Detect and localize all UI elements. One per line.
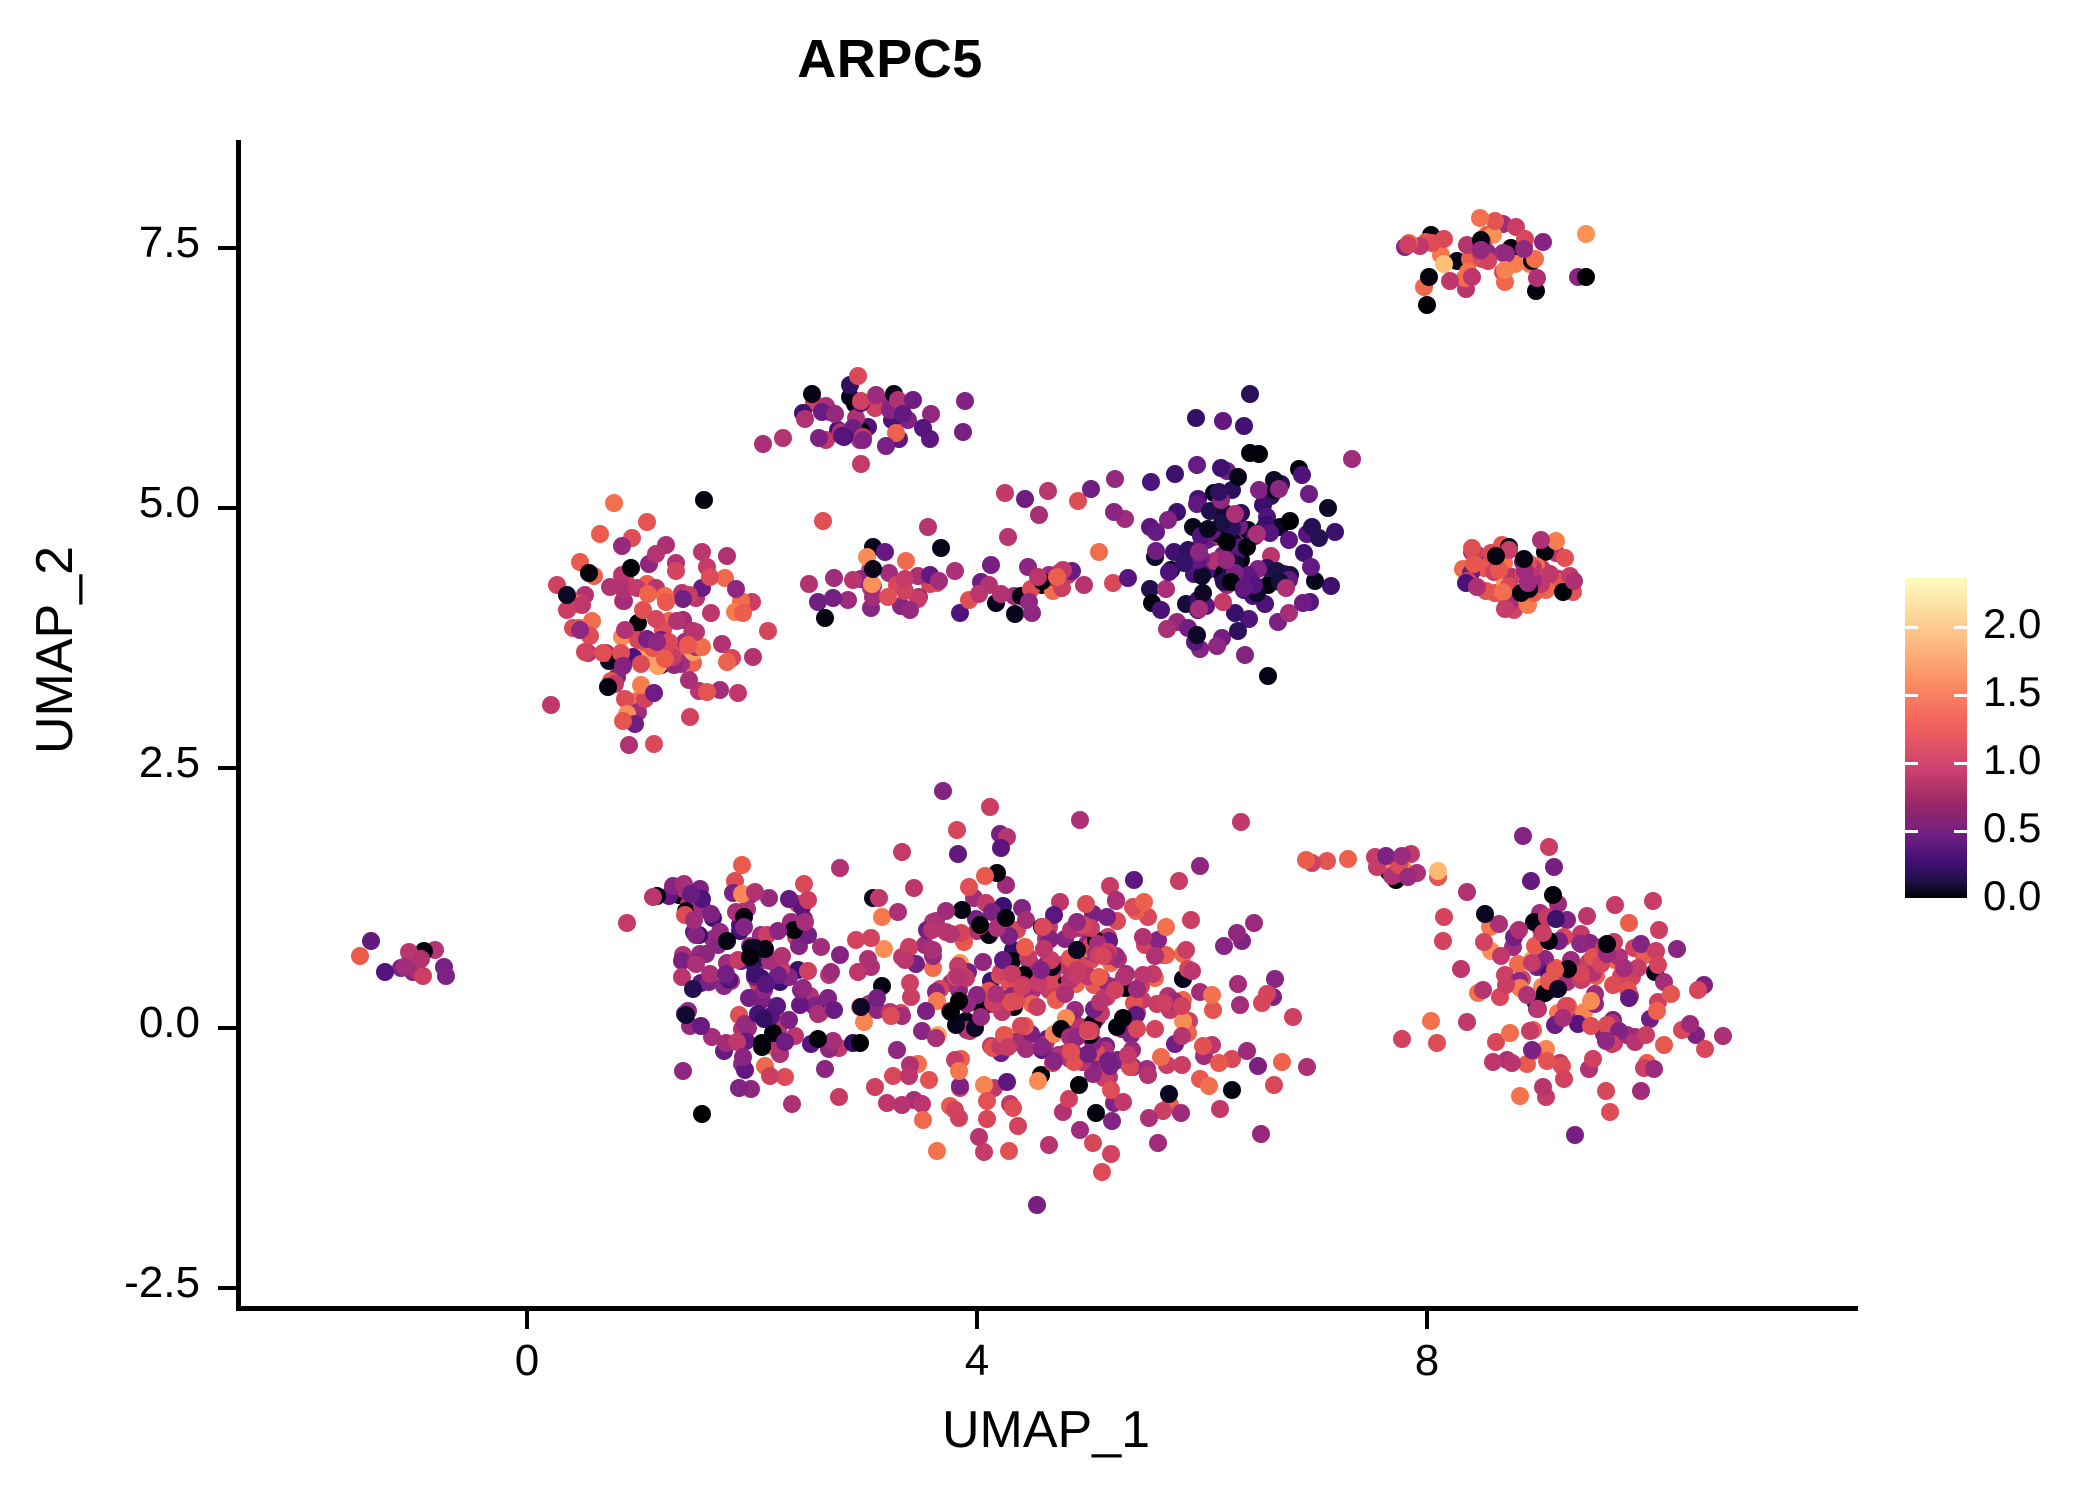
scatter-point (1668, 940, 1686, 958)
y-tick-label: 0.0 (20, 998, 200, 1048)
scatter-point (949, 845, 967, 863)
scatter-point (1193, 567, 1211, 585)
scatter-point (1277, 579, 1295, 597)
scatter-point (1210, 483, 1228, 501)
scatter-point (812, 938, 830, 956)
scatter-point (1534, 233, 1552, 251)
scatter-point (1017, 1040, 1035, 1058)
colorbar-tick-mark (1954, 694, 1967, 697)
x-tick-mark (1425, 1311, 1429, 1329)
scatter-point (816, 609, 834, 627)
scatter-point (730, 1079, 748, 1097)
scatter-point (1152, 601, 1170, 619)
scatter-point (1696, 1040, 1714, 1058)
scatter-point (833, 427, 851, 445)
scatter-point (830, 1088, 848, 1106)
scatter-point (1071, 1121, 1089, 1139)
scatter-point (1582, 1017, 1600, 1035)
scatter-point (999, 528, 1017, 546)
scatter-point (759, 622, 777, 640)
scatter-point (893, 1096, 911, 1114)
scatter-point (1458, 883, 1476, 901)
scatter-point (1393, 1030, 1411, 1048)
scatter-point (1128, 980, 1146, 998)
scatter-point (1106, 470, 1124, 488)
scatter-point (1645, 1060, 1663, 1078)
scatter-point (1200, 1077, 1218, 1095)
scatter-point (1280, 531, 1298, 549)
scatter-point (1079, 1021, 1097, 1039)
scatter-point (1637, 1026, 1655, 1044)
scatter-point (702, 604, 720, 622)
scatter-point (717, 965, 735, 983)
scatter-point (1229, 468, 1247, 486)
scatter-point (1620, 989, 1638, 1007)
colorbar-tick-mark (1905, 830, 1918, 833)
scatter-point (976, 867, 994, 885)
scatter-point (1468, 578, 1486, 596)
scatter-point (1303, 518, 1321, 536)
scatter-point (889, 903, 907, 921)
scatter-point (1142, 473, 1160, 491)
scatter-point (998, 1073, 1016, 1091)
scatter-point (1428, 1034, 1446, 1052)
scatter-point (1528, 269, 1546, 287)
scatter-point (1258, 985, 1276, 1003)
scatter-point (695, 491, 713, 509)
scatter-point (591, 525, 609, 543)
scatter-point (1203, 986, 1221, 1004)
scatter-point (809, 1005, 827, 1023)
scatter-point (1549, 980, 1567, 998)
scatter-point (882, 1007, 900, 1025)
scatter-point (1082, 480, 1100, 498)
scatter-point (902, 988, 920, 1006)
y-tick-label: 7.5 (20, 218, 200, 268)
scatter-point (826, 405, 844, 423)
scatter-point (1597, 1082, 1615, 1100)
scatter-point (1343, 450, 1361, 468)
scatter-point (1187, 409, 1205, 427)
scatter-point (1152, 1048, 1170, 1066)
scatter-point (1114, 1009, 1132, 1027)
scatter-point (1211, 1100, 1229, 1118)
scatter-point (656, 650, 674, 668)
scatter-point (822, 963, 840, 981)
scatter-point (1615, 959, 1633, 977)
scatter-point (632, 655, 650, 673)
scatter-point (1149, 1134, 1167, 1152)
scatter-point (879, 588, 897, 606)
scatter-point (1012, 1017, 1030, 1035)
scatter-point (1157, 918, 1175, 936)
scatter-point (888, 1041, 906, 1059)
scatter-point (542, 696, 560, 714)
scatter-point (1582, 992, 1600, 1010)
x-tick-label: 0 (457, 1336, 597, 1386)
scatter-point (864, 560, 882, 578)
colorbar-tick-label: 1.5 (1983, 668, 2041, 716)
x-tick-mark (975, 1311, 979, 1329)
scatter-point (1166, 465, 1184, 483)
colorbar-tick-mark (1905, 762, 1918, 765)
scatter-point (974, 953, 992, 971)
scatter-point (744, 648, 762, 666)
scatter-point (1297, 851, 1315, 869)
scatter-point (1034, 918, 1052, 936)
scatter-point (682, 885, 700, 903)
scatter-point (1515, 240, 1533, 258)
scatter-point (1183, 962, 1201, 980)
scatter-point (1235, 417, 1253, 435)
scatter-point (1177, 941, 1195, 959)
scatter-point (1252, 1125, 1270, 1143)
scatter-point (1546, 961, 1564, 979)
scatter-point (746, 883, 764, 901)
scatter-point (1182, 911, 1200, 929)
scatter-point (1538, 1052, 1556, 1070)
scatter-point (849, 963, 867, 981)
scatter-point (601, 578, 619, 596)
scatter-point (1650, 921, 1668, 939)
scatter-point (1515, 550, 1533, 568)
scatter-point (735, 918, 753, 936)
scatter-point (1294, 594, 1312, 612)
scatter-point (718, 932, 736, 950)
scatter-point (1173, 1027, 1191, 1045)
scatter-point (1501, 1024, 1519, 1042)
scatter-point (847, 931, 865, 949)
scatter-point (1298, 1058, 1316, 1076)
colorbar-tick-label: 1.0 (1983, 736, 2041, 784)
scatter-point (1565, 572, 1583, 590)
scatter-point (1098, 908, 1116, 926)
scatter-point (693, 1105, 711, 1123)
scatter-point (1648, 1002, 1666, 1020)
scatter-point (616, 621, 634, 639)
scatter-point (1441, 272, 1459, 290)
scatter-point (868, 989, 886, 1007)
scatter-point (1566, 1126, 1584, 1144)
scatter-point (949, 967, 967, 985)
scatter-point (1028, 1196, 1046, 1214)
scatter-point (1458, 1013, 1476, 1031)
scatter-point (795, 875, 813, 893)
scatter-point (1249, 1057, 1267, 1075)
scatter-point (866, 1078, 884, 1096)
scatter-point (825, 569, 843, 587)
scatter-point (1067, 966, 1085, 984)
scatter-point (1048, 568, 1066, 586)
scatter-point (729, 684, 747, 702)
page-title: ARPC5 (0, 28, 1780, 90)
scatter-point (1075, 576, 1093, 594)
scatter-point (1004, 1099, 1022, 1117)
scatter-point (1281, 512, 1299, 530)
scatter-point (614, 657, 632, 675)
scatter-point (753, 1038, 771, 1056)
scatter-point (852, 455, 870, 473)
scatter-point (718, 547, 736, 565)
scatter-point (816, 1060, 834, 1078)
scatter-point (946, 1101, 964, 1119)
scatter-point (1534, 1078, 1552, 1096)
scatter-point (799, 962, 817, 980)
scatter-point (1523, 954, 1541, 972)
scatter-point (1556, 549, 1574, 567)
scatter-point (1545, 858, 1563, 876)
scatter-point (1218, 533, 1236, 551)
scatter-point (1270, 480, 1288, 498)
scatter-point (1578, 907, 1596, 925)
scatter-point (901, 601, 919, 619)
colorbar-tick-label: 0.0 (1983, 872, 2041, 920)
scatter-point (576, 643, 594, 661)
scatter-point (1190, 543, 1208, 561)
y-tick-label: -2.5 (20, 1258, 200, 1308)
x-axis-title: UMAP_1 (236, 1400, 1856, 1460)
scatter-point (692, 1017, 710, 1035)
scatter-point (956, 392, 974, 410)
scatter-point (362, 932, 380, 950)
scatter-point (914, 1111, 932, 1129)
scatter-point (680, 671, 698, 689)
x-tick-label: 4 (907, 1336, 1047, 1386)
scatter-point (1418, 296, 1436, 314)
scatter-point (1420, 268, 1438, 286)
scatter-point (831, 859, 849, 877)
colorbar-tick-mark (1905, 898, 1918, 901)
scatter-point (1522, 872, 1540, 890)
scatter-point (1039, 482, 1057, 500)
scatter-point (1300, 485, 1318, 503)
scatter-point (1577, 268, 1595, 286)
scatter-point (900, 1067, 918, 1085)
colorbar-tick-mark (1905, 626, 1918, 629)
scatter-point (1157, 580, 1175, 598)
scatter-point (948, 821, 966, 839)
scatter-points-layer (236, 140, 1858, 1310)
scatter-point (727, 580, 745, 598)
scatter-point (1191, 857, 1209, 875)
scatter-point (1045, 1052, 1063, 1070)
scatter-point (927, 1029, 945, 1047)
scatter-point (1170, 872, 1188, 890)
scatter-point (1620, 914, 1638, 932)
scatter-point (937, 902, 955, 920)
scatter-point (799, 891, 817, 909)
scatter-point (1302, 558, 1320, 576)
scatter-point (1393, 847, 1411, 865)
scatter-point (1029, 1072, 1047, 1090)
scatter-point (1188, 456, 1206, 474)
scatter-point (999, 1038, 1017, 1056)
scatter-point (644, 888, 662, 906)
scatter-point (1238, 1042, 1256, 1060)
scatter-point (1655, 1036, 1673, 1054)
scatter-point (996, 484, 1014, 502)
scatter-point (1105, 503, 1123, 521)
y-tick-mark (218, 246, 236, 250)
scatter-point (1293, 466, 1311, 484)
scatter-point (1146, 1020, 1164, 1038)
scatter-point (1598, 935, 1616, 953)
scatter-point (814, 512, 832, 530)
scatter-point (1632, 1082, 1650, 1100)
scatter-point (645, 735, 663, 753)
scatter-point (684, 980, 702, 998)
scatter-point (1540, 838, 1558, 856)
scatter-point (1140, 1109, 1158, 1127)
scatter-point (657, 593, 675, 611)
scatter-point (1511, 1087, 1529, 1105)
scatter-point (1662, 985, 1680, 1003)
scatter-point (685, 911, 703, 929)
scatter-point (776, 1033, 794, 1051)
scatter-point (831, 946, 849, 964)
scatter-point (1497, 245, 1515, 263)
scatter-point (780, 1011, 798, 1029)
scatter-point (1107, 892, 1125, 910)
scatter-point (1223, 1081, 1241, 1099)
scatter-point (1139, 1066, 1157, 1084)
scatter-point (1194, 584, 1212, 602)
scatter-point (647, 545, 665, 563)
scatter-point (645, 684, 663, 702)
scatter-point (1319, 499, 1337, 517)
scatter-point (970, 1128, 988, 1146)
x-tick-label: 8 (1357, 1336, 1497, 1386)
y-tick-mark (218, 506, 236, 510)
scatter-point (893, 843, 911, 861)
scatter-point (783, 1095, 801, 1113)
scatter-point (1134, 928, 1152, 946)
y-axis-title: UMAP_2 (25, 300, 85, 1000)
scatter-point (796, 410, 814, 428)
scatter-point (613, 537, 631, 555)
scatter-point (905, 879, 923, 897)
scatter-point (954, 423, 972, 441)
scatter-point (1232, 813, 1250, 831)
scatter-point (810, 429, 828, 447)
scatter-point (1103, 1112, 1121, 1130)
scatter-point (1214, 412, 1232, 430)
scatter-point (620, 736, 638, 754)
scatter-point (1463, 539, 1481, 557)
colorbar-tick-label: 0.5 (1983, 804, 2041, 852)
scatter-point (1068, 941, 1086, 959)
scatter-point (873, 908, 891, 926)
scatter-point (1208, 637, 1226, 655)
scatter-point (1236, 646, 1254, 664)
scatter-point (558, 601, 576, 619)
scatter-point (1160, 1085, 1178, 1103)
scatter-point (1093, 1163, 1111, 1181)
scatter-point (1070, 1076, 1088, 1094)
scatter-point (1229, 622, 1247, 640)
colorbar-tick-mark (1954, 762, 1967, 765)
scatter-point (946, 562, 964, 580)
scatter-point (376, 963, 394, 981)
scatter-point (1597, 1032, 1615, 1050)
scatter-point (681, 708, 699, 726)
scatter-point (1231, 996, 1249, 1014)
scatter-point (1714, 1027, 1732, 1045)
scatter-point (1422, 1012, 1440, 1030)
scatter-point (1514, 827, 1532, 845)
scatter-point (972, 1008, 990, 1026)
scatter-point (1102, 1081, 1120, 1099)
scatter-point (1544, 886, 1562, 904)
scatter-point (1484, 1053, 1502, 1071)
scatter-point (917, 1002, 935, 1020)
scatter-point (639, 585, 657, 603)
scatter-point (876, 543, 894, 561)
scatter-point (1399, 868, 1417, 886)
scatter-point (1173, 1056, 1191, 1074)
scatter-point (754, 435, 772, 453)
scatter-point (839, 591, 857, 609)
scatter-point (1084, 1134, 1102, 1152)
y-tick-mark (218, 1026, 236, 1030)
scatter-point (978, 1092, 996, 1110)
scatter-point (877, 437, 895, 455)
scatter-point (599, 678, 617, 696)
scatter-point (1235, 579, 1253, 597)
scatter-point (351, 947, 369, 965)
scatter-point (1241, 385, 1259, 403)
scatter-point (950, 1062, 968, 1080)
scatter-point (1040, 1136, 1058, 1154)
scatter-point (1476, 905, 1494, 923)
scatter-point (855, 1013, 873, 1031)
scatter-point (1102, 1145, 1120, 1163)
scatter-point (1125, 871, 1143, 889)
scatter-point (1147, 542, 1165, 560)
scatter-point (953, 901, 971, 919)
scatter-point (934, 782, 952, 800)
y-tick-mark (218, 1286, 236, 1290)
scatter-point (852, 998, 870, 1016)
scatter-point (437, 967, 455, 985)
x-tick-mark (525, 1311, 529, 1329)
scatter-point (970, 585, 988, 603)
scatter-point (1229, 975, 1247, 993)
scatter-point (1259, 667, 1277, 685)
scatter-point (580, 564, 598, 582)
scatter-point (932, 539, 950, 557)
scatter-point (1090, 543, 1108, 561)
scatter-point (849, 367, 867, 385)
scatter-point (1071, 811, 1089, 829)
scatter-point (1472, 241, 1490, 259)
scatter-point (1521, 1022, 1539, 1040)
scatter-point (1601, 1103, 1619, 1121)
scatter-point (1284, 1008, 1302, 1026)
scatter-point (794, 979, 812, 997)
scatter-point (896, 570, 914, 588)
scatter-point (1322, 577, 1340, 595)
scatter-point (1465, 555, 1483, 573)
scatter-point (1029, 568, 1047, 586)
scatter-point (774, 429, 792, 447)
scatter-point (1541, 565, 1559, 583)
scatter-point (1681, 1015, 1699, 1033)
scatter-point (981, 798, 999, 816)
scatter-point (1689, 981, 1707, 999)
scatter-point (1158, 620, 1176, 638)
scatter-point (1434, 932, 1452, 950)
